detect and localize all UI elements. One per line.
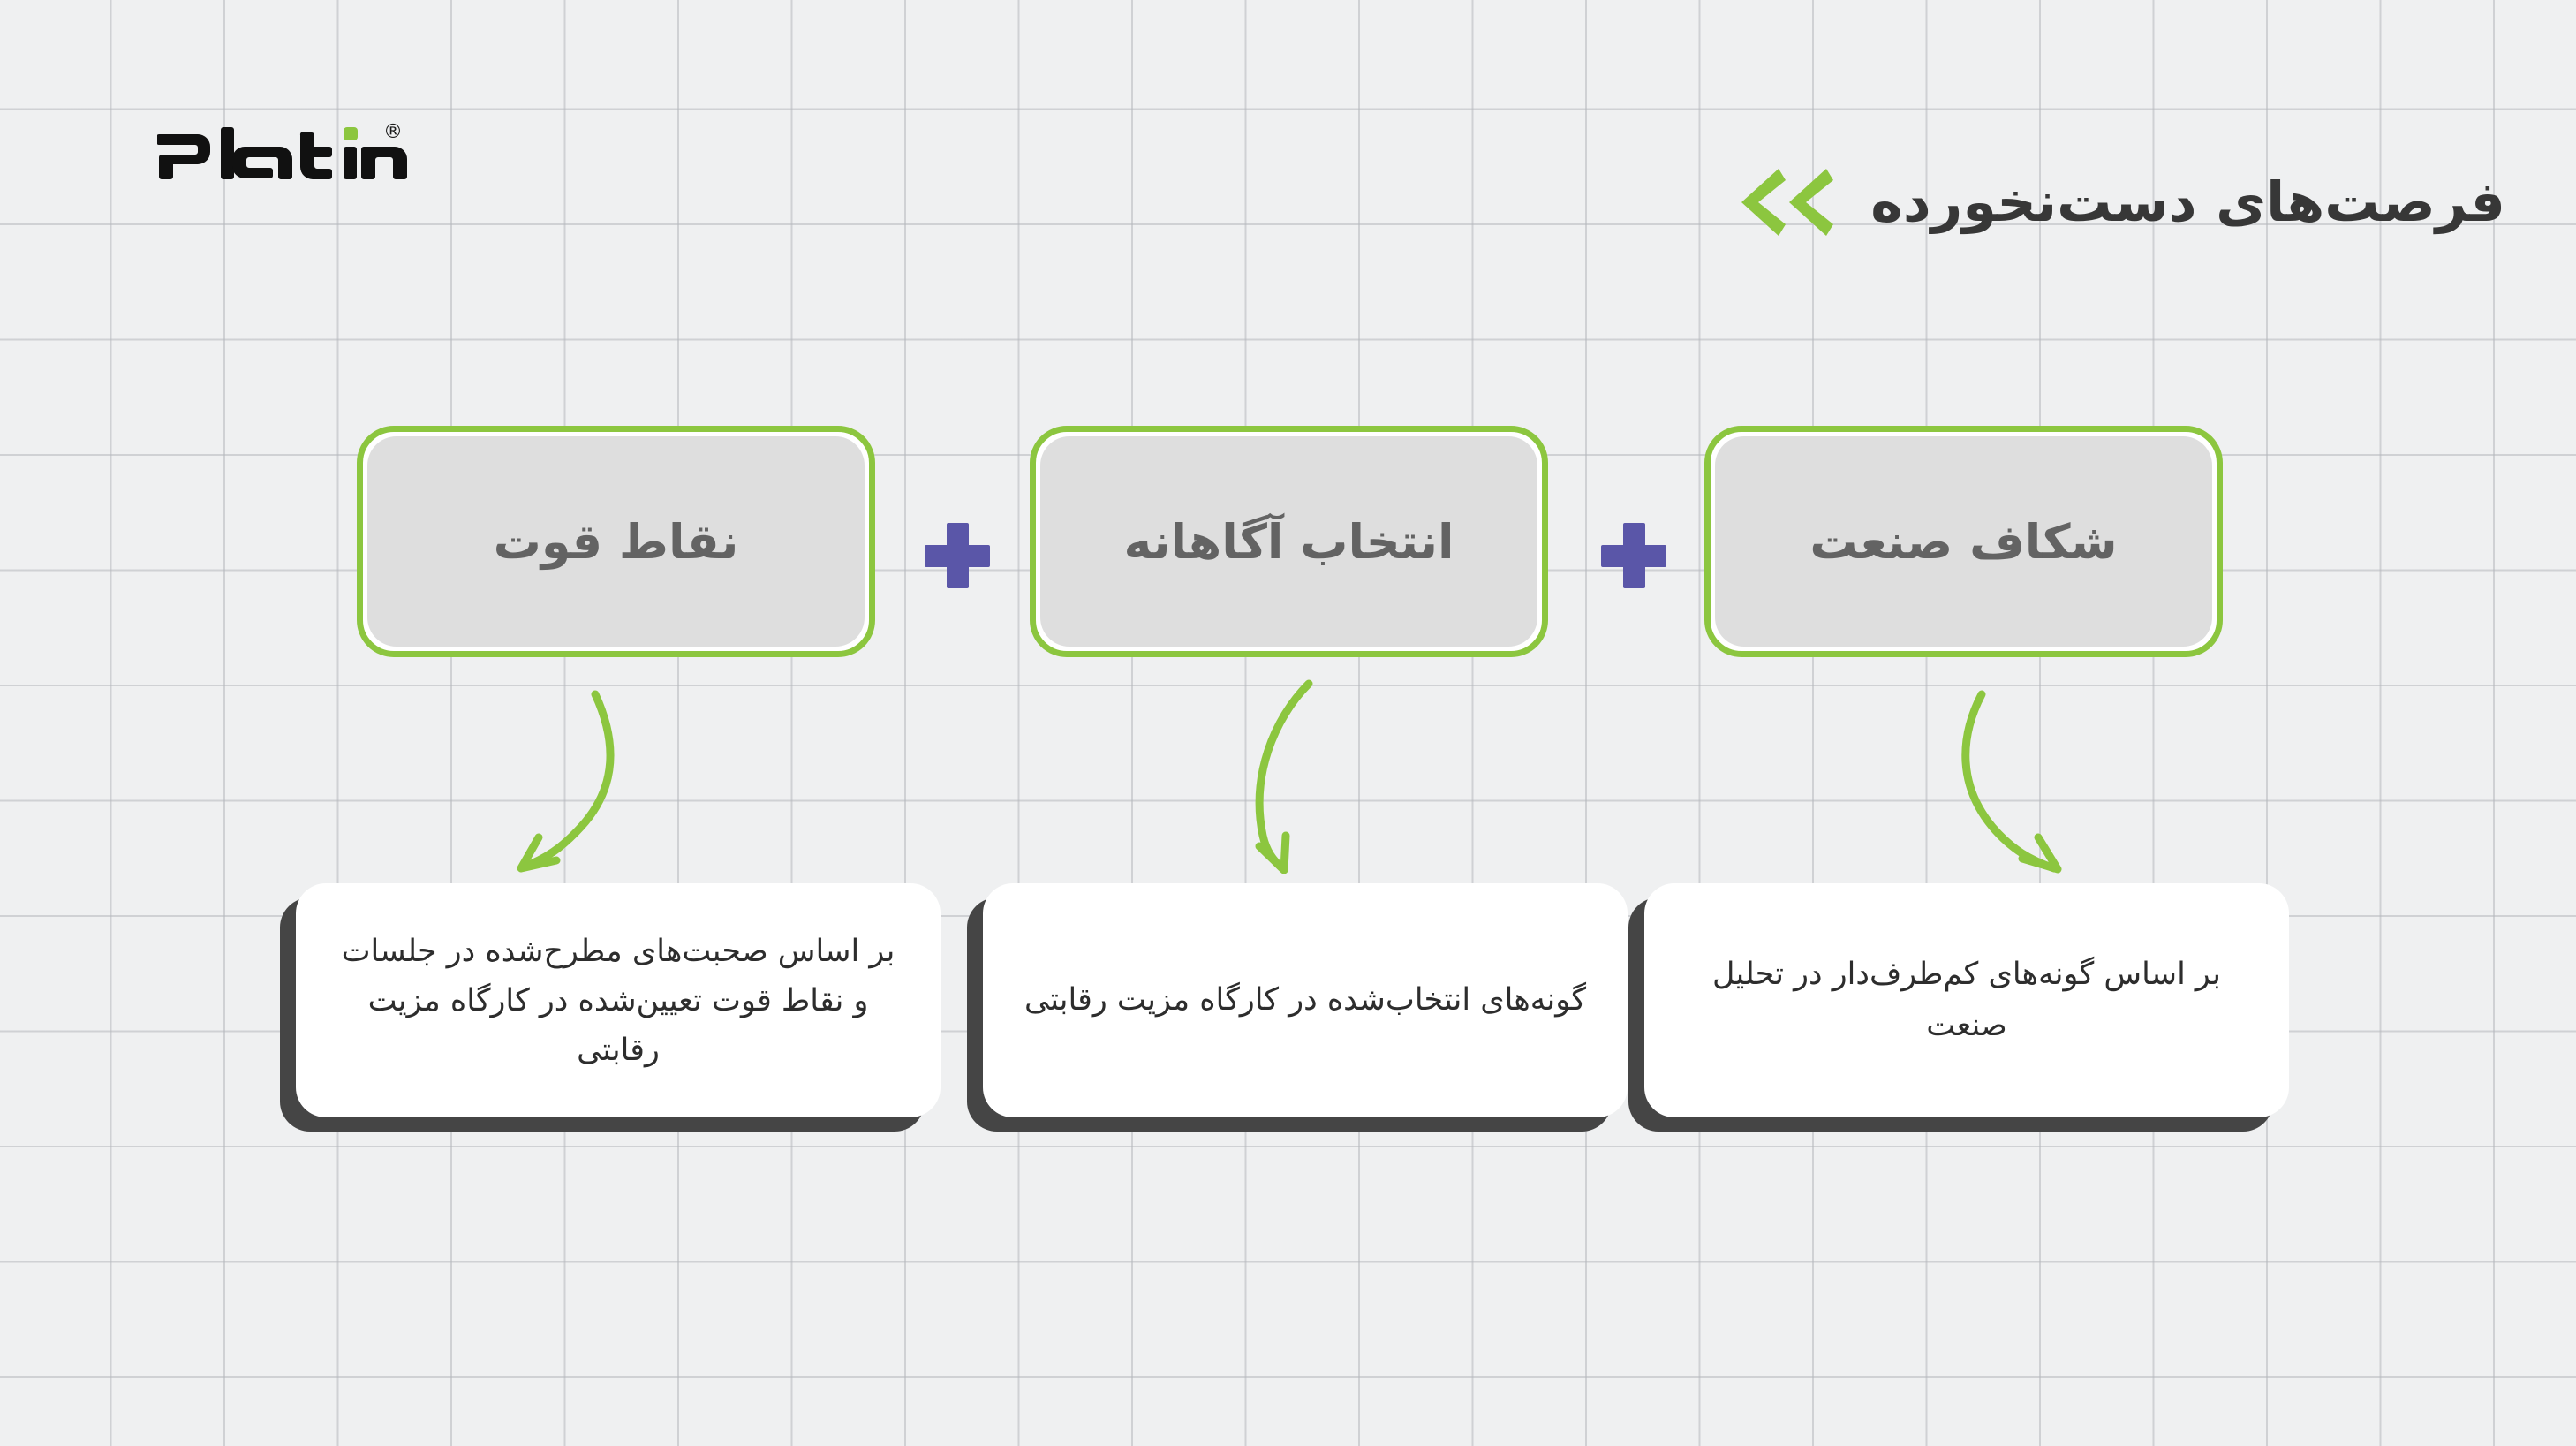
concept-box-conscious-choice[interactable]: انتخاب آگاهانه xyxy=(1030,426,1548,657)
slide-canvas: ® فرصت‌های دست‌نخورده نقاط قوت انتخاب آگ… xyxy=(0,0,2576,1446)
card-description: گونه‌های انتخاب‌شده در کارگاه مزیت رقابت… xyxy=(1024,975,1586,1026)
curved-arrow-down-icon xyxy=(1210,654,1422,892)
description-card-conscious-choice: گونه‌های انتخاب‌شده در کارگاه مزیت رقابت… xyxy=(983,883,1628,1117)
platin-wordmark-icon xyxy=(157,120,422,182)
logo-accent-dot xyxy=(344,127,358,140)
platin-logo: ® xyxy=(131,120,422,182)
concept-box-label: انتخاب آگاهانه xyxy=(1123,514,1454,570)
page-title: فرصت‌های دست‌نخورده xyxy=(1870,172,2505,232)
plus-operator-icon xyxy=(1601,523,1666,588)
card-description: بر اساس گونه‌های کم‌طرف‌دار در تحلیل صنع… xyxy=(1685,950,2248,1052)
concept-box-inner: انتخاب آگاهانه xyxy=(1040,436,1537,647)
page-header: فرصت‌های دست‌نخورده xyxy=(1734,164,2505,240)
double-chevron-left-icon xyxy=(1734,164,1840,240)
card-surface[interactable]: بر اساس گونه‌های کم‌طرف‌دار در تحلیل صنع… xyxy=(1644,883,2289,1117)
curved-arrow-down-left-icon xyxy=(477,654,689,892)
concept-box-inner: شکاف صنعت xyxy=(1715,436,2212,647)
plus-vertical-bar xyxy=(1623,523,1645,588)
card-description: بر اساس صحبت‌های مطرح‌شده در جلسات و نقا… xyxy=(336,927,900,1075)
card-surface[interactable]: گونه‌های انتخاب‌شده در کارگاه مزیت رقابت… xyxy=(983,883,1628,1117)
concept-box-label: شکاف صنعت xyxy=(1809,514,2117,570)
description-card-industry-gap: بر اساس گونه‌های کم‌طرف‌دار در تحلیل صنع… xyxy=(1644,883,2289,1117)
plus-vertical-bar xyxy=(947,523,969,588)
plus-operator-icon xyxy=(925,523,990,588)
card-surface[interactable]: بر اساس صحبت‌های مطرح‌شده در جلسات و نقا… xyxy=(296,883,941,1117)
registered-trademark-icon: ® xyxy=(383,121,403,143)
description-card-strengths: بر اساس صحبت‌های مطرح‌شده در جلسات و نقا… xyxy=(296,883,941,1117)
concept-box-label: نقاط قوت xyxy=(494,514,739,570)
concept-box-industry-gap[interactable]: شکاف صنعت xyxy=(1704,426,2223,657)
curved-arrow-down-right-icon xyxy=(1934,654,2146,892)
concept-box-inner: نقاط قوت xyxy=(367,436,865,647)
concept-box-strengths[interactable]: نقاط قوت xyxy=(357,426,875,657)
